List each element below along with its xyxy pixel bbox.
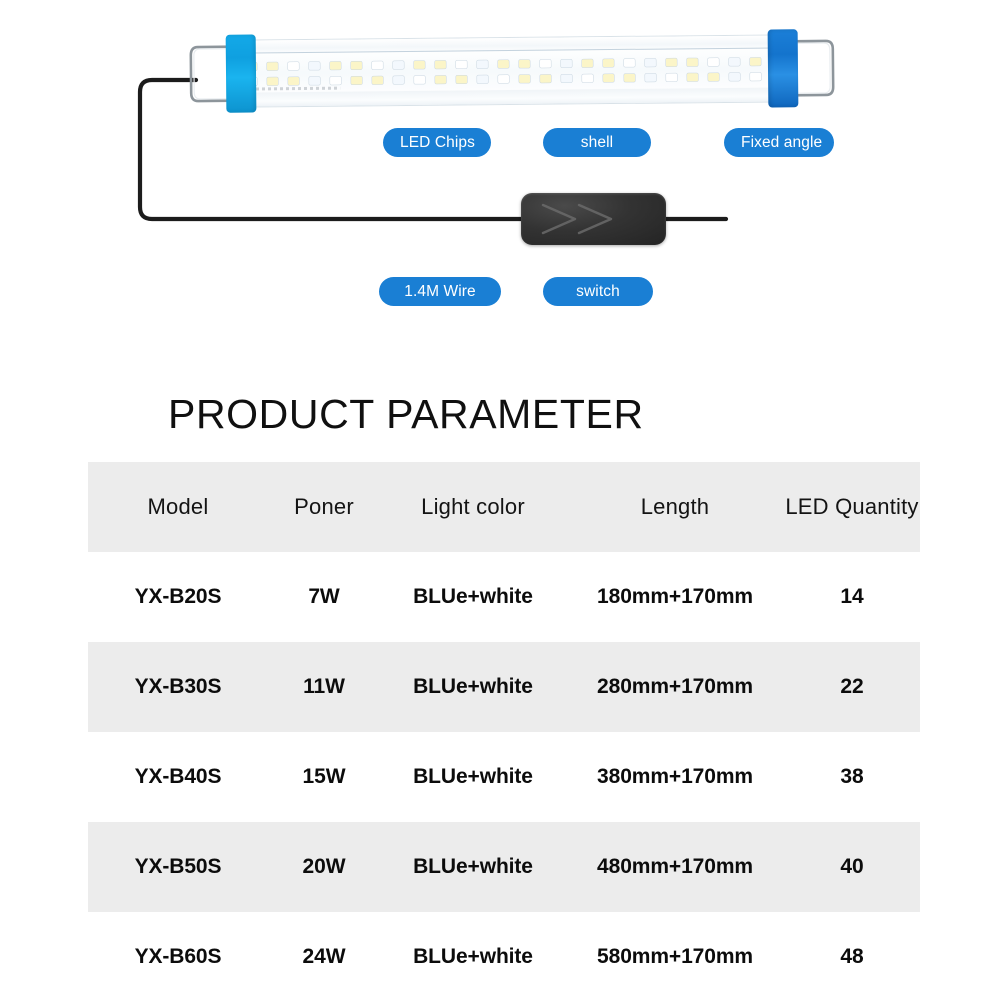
led-chip: [498, 60, 509, 68]
callout-label-fixed-angle: Fixed angle: [724, 128, 834, 157]
cell-led-quantity: 14: [784, 585, 920, 609]
led-chip: [288, 62, 299, 70]
cell-power: 11W: [268, 675, 380, 699]
led-chip: [687, 58, 698, 66]
led-chip: [309, 61, 320, 69]
led-chip: [708, 73, 719, 81]
header-led-quantity: LED Quantity: [784, 494, 920, 520]
led-chip: [561, 74, 572, 82]
cell-light-color: BLUe+white: [380, 765, 566, 789]
led-chip: [267, 62, 278, 70]
led-row-bottom: [246, 70, 782, 86]
callout-label-led-chips: LED Chips: [383, 128, 491, 157]
led-chip: [729, 57, 740, 65]
led-chip: [498, 75, 509, 83]
cell-power: 20W: [268, 855, 380, 879]
table-row: YX-B20S7WBLUe+white180mm+170mm14: [88, 552, 920, 642]
callout-label-switch: switch: [543, 277, 653, 306]
led-chip: [414, 60, 425, 68]
cell-power: 7W: [268, 585, 380, 609]
cell-length: 380mm+170mm: [566, 765, 784, 789]
cell-light-color: BLUe+white: [380, 675, 566, 699]
table-row: YX-B50S20WBLUe+white480mm+170mm40: [88, 822, 920, 912]
led-chip: [393, 76, 404, 84]
table-row: YX-B30S11WBLUe+white280mm+170mm22: [88, 642, 920, 732]
led-chip: [288, 77, 299, 85]
table-row: YX-B40S15WBLUe+white380mm+170mm38: [88, 732, 920, 822]
led-chip: [582, 59, 593, 67]
led-chip: [351, 61, 362, 69]
led-chip: [603, 59, 614, 67]
header-power: Poner: [268, 494, 380, 520]
led-chip: [519, 59, 530, 67]
header-model: Model: [88, 494, 268, 520]
cell-length: 480mm+170mm: [566, 855, 784, 879]
cell-model: YX-B30S: [88, 675, 268, 699]
cell-led-quantity: 38: [784, 765, 920, 789]
led-chip: [330, 76, 341, 84]
led-chip: [477, 75, 488, 83]
panel-print-text: [250, 87, 340, 91]
led-chip: [687, 73, 698, 81]
led-chip: [372, 61, 383, 69]
cell-length: 280mm+170mm: [566, 675, 784, 699]
led-row-top: [246, 55, 782, 71]
callout-label-wire: 1.4M Wire: [379, 277, 501, 306]
cell-light-color: BLUe+white: [380, 945, 566, 969]
led-chip: [309, 76, 320, 84]
led-chip: [435, 75, 446, 83]
led-chip: [435, 60, 446, 68]
led-chip: [666, 58, 677, 66]
led-chip: [603, 74, 614, 82]
end-cap-left: [226, 34, 257, 112]
led-chip: [372, 76, 383, 84]
led-chip: [519, 74, 530, 82]
led-chip: [414, 75, 425, 83]
led-light-fixture: [188, 29, 837, 113]
led-chip: [582, 74, 593, 82]
header-length: Length: [566, 494, 784, 520]
led-chip: [708, 58, 719, 66]
callout-label-shell: shell: [543, 128, 651, 157]
led-chip: [393, 61, 404, 69]
page-title: PRODUCT PARAMETER: [168, 391, 644, 438]
cell-model: YX-B20S: [88, 585, 268, 609]
led-chip: [351, 76, 362, 84]
cell-led-quantity: 22: [784, 675, 920, 699]
led-chip: [267, 77, 278, 85]
product-parameter-table: Model Poner Light color Length LED Quant…: [88, 462, 920, 1002]
table-body: YX-B20S7WBLUe+white180mm+170mm14YX-B30S1…: [88, 552, 920, 1002]
table-header-row: Model Poner Light color Length LED Quant…: [88, 462, 920, 552]
led-chip: [540, 74, 551, 82]
cell-led-quantity: 48: [784, 945, 920, 969]
cell-length: 580mm+170mm: [566, 945, 784, 969]
led-chip: [540, 59, 551, 67]
led-chip: [750, 72, 761, 80]
led-chip: [456, 60, 467, 68]
cell-power: 24W: [268, 945, 380, 969]
led-chip: [477, 60, 488, 68]
product-diagram: LED ChipsshellFixed angle1.4M Wireswitch: [0, 0, 1000, 360]
cell-led-quantity: 40: [784, 855, 920, 879]
led-chip: [330, 61, 341, 69]
inline-switch[interactable]: [521, 193, 666, 245]
table-row: YX-B60S24WBLUe+white580mm+170mm48: [88, 912, 920, 1002]
cell-light-color: BLUe+white: [380, 585, 566, 609]
cell-power: 15W: [268, 765, 380, 789]
cell-length: 180mm+170mm: [566, 585, 784, 609]
end-cap-right: [768, 29, 799, 107]
cell-light-color: BLUe+white: [380, 855, 566, 879]
led-chip: [666, 73, 677, 81]
led-chip-panel: [242, 49, 786, 92]
led-chip: [624, 58, 635, 66]
led-chip: [645, 73, 656, 81]
led-chip: [456, 75, 467, 83]
cell-model: YX-B40S: [88, 765, 268, 789]
cell-model: YX-B50S: [88, 855, 268, 879]
led-chip: [561, 59, 572, 67]
led-chip: [624, 73, 635, 81]
led-chip: [750, 57, 761, 65]
led-chip: [729, 72, 740, 80]
cell-model: YX-B60S: [88, 945, 268, 969]
led-chip: [645, 58, 656, 66]
header-light-color: Light color: [380, 494, 566, 520]
